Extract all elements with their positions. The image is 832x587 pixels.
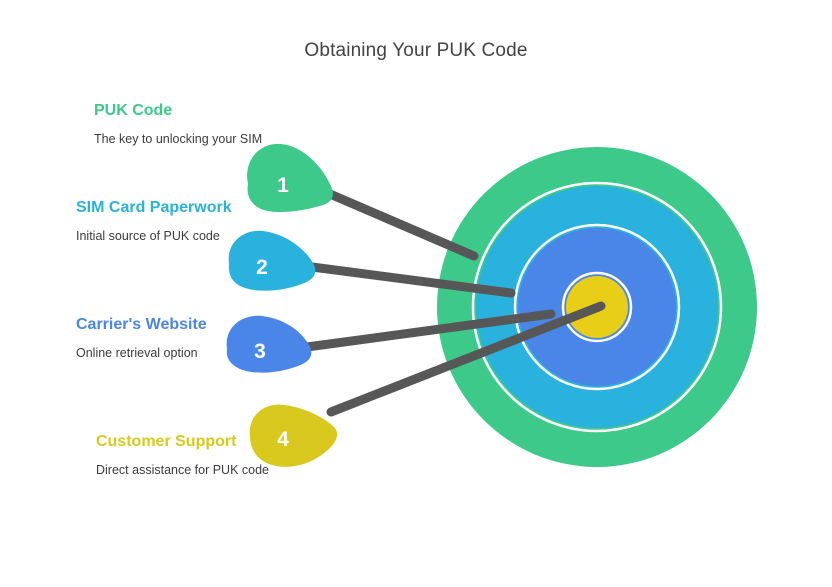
step-marker-4[interactable]: 4: [250, 405, 338, 467]
page-title: Obtaining Your PUK Code: [0, 40, 832, 62]
legend-item-4-description: Direct assistance for PUK code: [96, 462, 296, 480]
legend-item-1-description: The key to unlocking your SIM: [94, 131, 294, 149]
step-marker-2-shape[interactable]: [229, 231, 316, 291]
step-marker-2[interactable]: 2: [229, 231, 316, 291]
infographic-canvas: Obtaining Your PUK Code PUK Code The key…: [0, 0, 832, 587]
step-markers: 1 2 3 4: [227, 144, 338, 467]
step-marker-3-shape[interactable]: [227, 316, 312, 373]
connector-line-1[interactable]: [330, 194, 474, 256]
step-marker-1[interactable]: 1: [247, 144, 333, 212]
step-marker-1-shape[interactable]: [247, 144, 333, 212]
legend-item-2-heading: SIM Card Paperwork: [76, 197, 276, 219]
legend-item-1[interactable]: PUK Code The key to unlocking your SIM: [94, 100, 294, 148]
step-marker-4-shape[interactable]: [250, 405, 338, 467]
legend-item-1-heading: PUK Code: [94, 100, 294, 122]
step-marker-3[interactable]: 3: [227, 316, 312, 373]
target-diagram: 1 2 3 4: [0, 0, 832, 587]
